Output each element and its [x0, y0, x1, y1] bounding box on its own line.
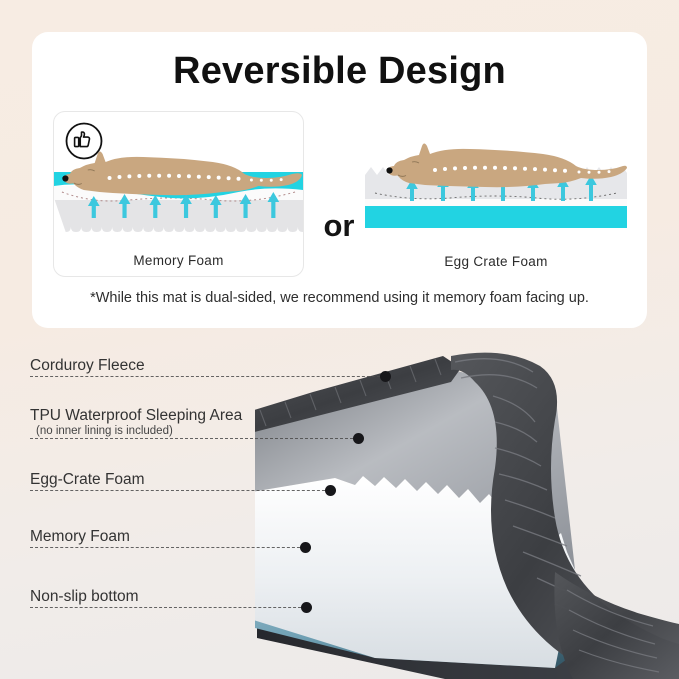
leader-line-tpu	[30, 438, 358, 439]
layer-label-egg-crate: Egg-Crate Foam	[30, 470, 145, 489]
illustration-dog-on-egg-crate-foam	[365, 111, 627, 243]
panel-egg-crate-foam: Egg Crate Foam	[365, 111, 627, 277]
layer-sublabel-tpu: (no inner lining is included)	[30, 425, 242, 437]
leader-dot-non-slip	[301, 602, 312, 613]
leader-dot-corduroy	[380, 371, 391, 382]
page-title: Reversible Design	[32, 50, 647, 93]
layer-row-corduroy: Corduroy Fleece	[30, 356, 145, 375]
layer-row-egg-crate: Egg-Crate Foam	[30, 470, 145, 489]
product-photo	[255, 338, 679, 679]
layer-row-non-slip: Non-slip bottom	[30, 587, 139, 606]
or-separator-label: or	[313, 208, 365, 244]
layer-label-corduroy: Corduroy Fleece	[30, 356, 145, 375]
panel-caption-memory-foam: Memory Foam	[54, 253, 303, 268]
layer-breakdown-diagram: Corduroy Fleece TPU Waterproof Sleeping …	[0, 338, 679, 679]
layer-row-memory-foam: Memory Foam	[30, 527, 130, 546]
leader-dot-tpu	[353, 433, 364, 444]
illustration-dog-on-memory-foam	[54, 112, 303, 244]
panel-memory-foam: Memory Foam	[53, 111, 304, 277]
layer-row-tpu: TPU Waterproof Sleeping Area (no inner l…	[30, 406, 242, 437]
leader-line-memory-foam	[30, 547, 305, 548]
layer-label-non-slip: Non-slip bottom	[30, 587, 139, 606]
leader-line-corduroy	[30, 376, 385, 377]
leader-dot-memory-foam	[300, 542, 311, 553]
layer-label-memory-foam: Memory Foam	[30, 527, 130, 546]
leader-dot-egg-crate	[325, 485, 336, 496]
leader-line-egg-crate	[30, 490, 330, 491]
layer-label-tpu: TPU Waterproof Sleeping Area	[30, 406, 242, 425]
reversible-note: *While this mat is dual-sided, we recomm…	[32, 290, 647, 306]
panel-caption-egg-crate-foam: Egg Crate Foam	[365, 254, 627, 269]
leader-line-non-slip	[30, 607, 306, 608]
reversible-design-card: Reversible Design	[32, 32, 647, 328]
